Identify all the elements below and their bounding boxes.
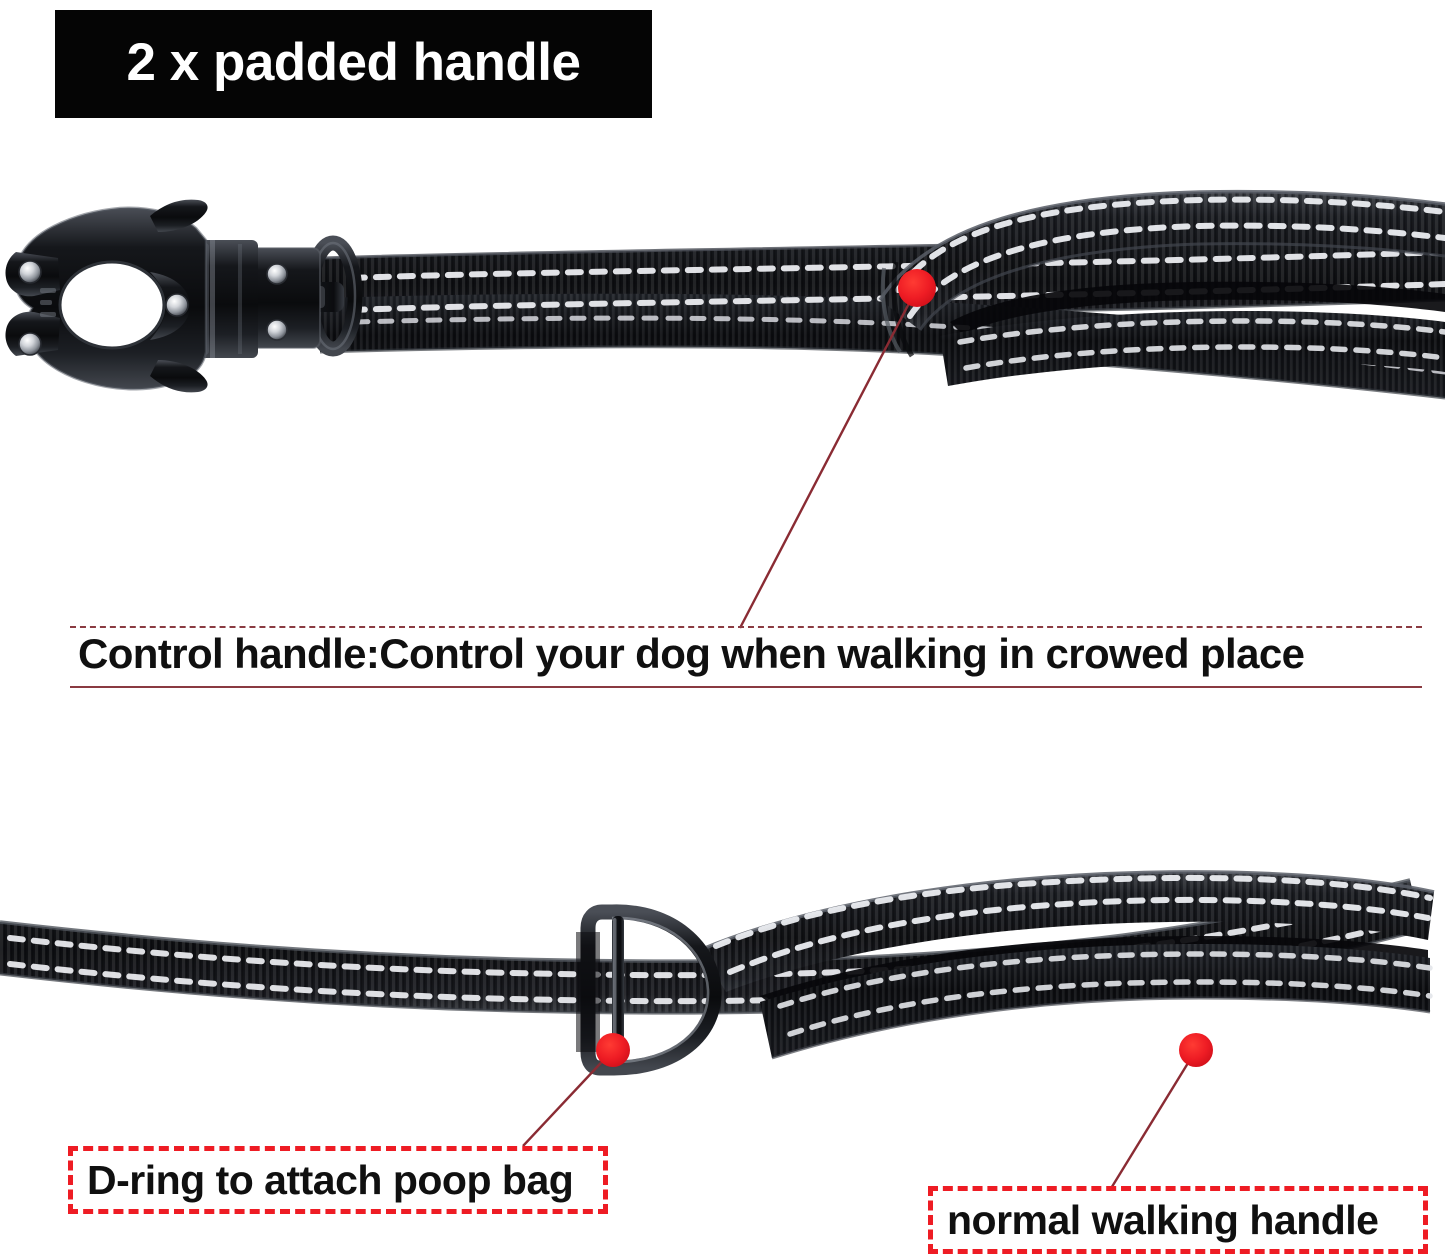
leader-walking-handle [1110, 1050, 1196, 1190]
frog-clasp [5, 200, 242, 393]
red-dot-control-handle [898, 269, 936, 307]
walking-handle-loop [700, 872, 1434, 1058]
caption-bottom-rule [70, 686, 1422, 688]
caption-control-handle: Control handle:Control your dog when wal… [70, 626, 1422, 688]
label-walking-handle-text: normal walking handle [933, 1197, 1392, 1244]
red-dot-d-ring [596, 1033, 630, 1067]
title-banner: 2 x padded handle [55, 10, 652, 118]
red-dot-walking-handle [1179, 1033, 1213, 1067]
callout-layer [523, 269, 1213, 1190]
caption-top-rule [70, 626, 1422, 628]
label-walking-handle: normal walking handle [928, 1186, 1428, 1254]
caption-control-handle-text: Control handle:Control your dog when wal… [78, 630, 1422, 678]
infographic-canvas: 2 x padded handle Control handle:Control… [0, 0, 1445, 1260]
control-handle-loop [880, 192, 1445, 386]
label-d-ring-text: D-ring to attach poop bag [73, 1157, 587, 1204]
title-banner-text: 2 x padded handle [127, 32, 581, 93]
leash-upper [5, 192, 1445, 398]
leash-lower [0, 872, 1434, 1068]
leader-d-ring [523, 1050, 613, 1146]
label-d-ring: D-ring to attach poop bag [68, 1146, 608, 1214]
